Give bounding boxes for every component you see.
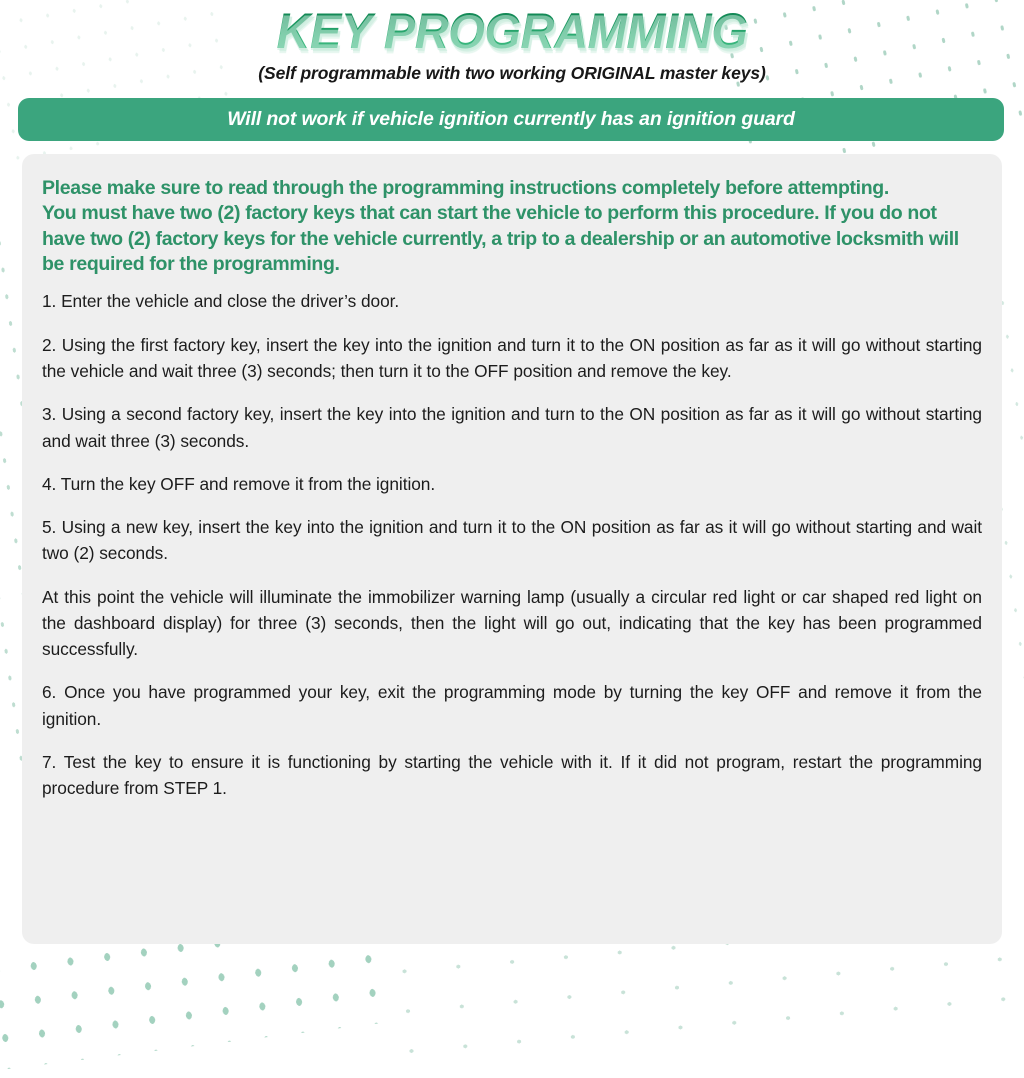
step-item: 1. Enter the vehicle and close the drive… [42,288,982,314]
header: KEY PROGRAMMING (Self programmable with … [0,0,1024,84]
step-item: 6. Once you have programmed your key, ex… [42,679,982,732]
step-item: 4. Turn the key OFF and remove it from t… [42,471,982,497]
step-item: 3. Using a second factory key, insert th… [42,401,982,454]
notice-line-2: You must have two (2) factory keys that … [42,201,982,277]
step-item: 2. Using the first factory key, insert t… [42,332,982,385]
notice-block: Please make sure to read through the pro… [42,176,982,277]
page-subtitle: (Self programmable with two working ORIG… [0,63,1024,84]
warning-banner-text: Will not work if vehicle ignition curren… [227,108,795,131]
page-title: KEY PROGRAMMING [0,6,1024,56]
notice-line-1: Please make sure to read through the pro… [42,176,982,201]
step-item: 5. Using a new key, insert the key into … [42,514,982,567]
step-list: 1. Enter the vehicle and close the drive… [42,288,982,801]
instructions-panel: Please make sure to read through the pro… [22,154,1002,944]
step-note: At this point the vehicle will illuminat… [42,584,982,663]
warning-banner: Will not work if vehicle ignition curren… [18,98,1004,141]
step-item: 7. Test the key to ensure it is function… [42,749,982,802]
